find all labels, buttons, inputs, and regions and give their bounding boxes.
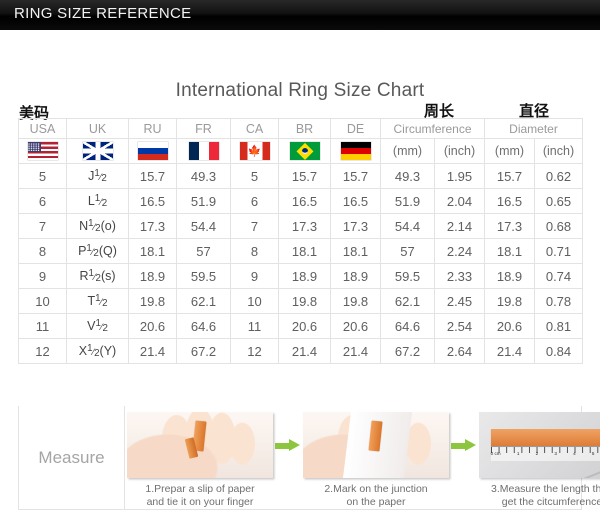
cell-fr: 54.4 [177, 214, 231, 239]
ruler-mark: 4 [573, 452, 576, 457]
de-flag-icon [341, 142, 371, 160]
cn-label-circumference: 周长 [424, 104, 454, 119]
br-flag-icon [290, 142, 320, 160]
step-2-caption: 2.Mark on the junction on the paper [301, 483, 451, 510]
usa-flag-icon [28, 142, 58, 160]
cell-de: 19.8 [331, 289, 381, 314]
cell-ru: 18.9 [129, 264, 177, 289]
cell-circ-mm: 57 [381, 239, 435, 264]
cell-br: 18.1 [279, 239, 331, 264]
cell-dia-mm: 17.3 [485, 214, 535, 239]
cell-circ-mm: 67.2 [381, 339, 435, 364]
cell-usa: 10 [19, 289, 67, 314]
arrow-cell-1 [275, 412, 301, 478]
cell-br: 17.3 [279, 214, 331, 239]
cell-uk: V1⁄2 [67, 314, 129, 339]
cell-de: 16.5 [331, 189, 381, 214]
cell-usa: 12 [19, 339, 67, 364]
step-1-caption: 1.Prepar a slip of paper and tie it on y… [125, 483, 275, 510]
cell-ca: 11 [231, 314, 279, 339]
ca-flag-icon [240, 142, 270, 160]
measure-step-3: 0 cm123456 3.Measure the length then get… [477, 412, 600, 510]
cell-dia-in: 0.62 [535, 164, 583, 189]
cell-de: 20.6 [331, 314, 381, 339]
col-header-uk: UK [67, 119, 129, 139]
cell-circ-in: 2.64 [435, 339, 485, 364]
cell-circ-mm: 54.4 [381, 214, 435, 239]
cell-dia-mm: 16.5 [485, 189, 535, 214]
cell-dia-in: 0.78 [535, 289, 583, 314]
cell-uk: N1⁄2(o) [67, 214, 129, 239]
ru-flag-icon [138, 142, 168, 160]
cell-fr: 51.9 [177, 189, 231, 214]
flag-cell-fr [177, 139, 231, 164]
step-3-photo: 0 cm123456 [479, 412, 600, 478]
paper-strip-measured [491, 429, 600, 446]
cell-br: 18.9 [279, 264, 331, 289]
table-row: 12X1⁄2(Y)21.467.21221.421.467.22.6421.40… [19, 339, 583, 364]
cell-dia-in: 0.74 [535, 264, 583, 289]
cell-usa: 7 [19, 214, 67, 239]
table-header-codes: USA UK RU FR CA BR DE Circumference Diam… [19, 119, 583, 139]
step-1-photo [127, 412, 273, 478]
cell-de: 18.9 [331, 264, 381, 289]
cell-fr: 57 [177, 239, 231, 264]
cell-circ-in: 2.24 [435, 239, 485, 264]
cell-br: 16.5 [279, 189, 331, 214]
col-header-ca: CA [231, 119, 279, 139]
ruler-mark: 1 [517, 452, 520, 457]
fr-flag-icon [189, 142, 219, 160]
cell-dia-in: 0.65 [535, 189, 583, 214]
flag-cell-de [331, 139, 381, 164]
cell-usa: 5 [19, 164, 67, 189]
col-header-de: DE [331, 119, 381, 139]
cell-br: 19.8 [279, 289, 331, 314]
table-row: 7N1⁄2(o)17.354.4717.317.354.42.1417.30.6… [19, 214, 583, 239]
measure-step-2: 2.Mark on the junction on the paper [301, 412, 451, 510]
cell-br: 21.4 [279, 339, 331, 364]
cell-circ-mm: 59.5 [381, 264, 435, 289]
cell-de: 15.7 [331, 164, 381, 189]
col-header-circumference: Circumference [381, 119, 485, 139]
cell-br: 20.6 [279, 314, 331, 339]
cell-ru: 16.5 [129, 189, 177, 214]
cell-dia-mm: 19.8 [485, 289, 535, 314]
flag-cell-ru [129, 139, 177, 164]
unit-dia-in: (inch) [535, 139, 583, 164]
cell-dia-in: 0.84 [535, 339, 583, 364]
table-row: 5J1⁄215.749.3515.715.749.31.9515.70.62 [19, 164, 583, 189]
measure-panel: Measure 1.Prepar a slip of paper and tie… [18, 406, 582, 510]
col-header-fr: FR [177, 119, 231, 139]
unit-circ-in: (inch) [435, 139, 485, 164]
cell-dia-mm: 18.9 [485, 264, 535, 289]
table-row: 8P1⁄2(Q)18.157818.118.1572.2418.10.71 [19, 239, 583, 264]
cell-dia-mm: 18.1 [485, 239, 535, 264]
col-header-br: BR [279, 119, 331, 139]
col-header-usa: USA [19, 119, 67, 139]
cell-ru: 19.8 [129, 289, 177, 314]
flag-cell-uk [67, 139, 129, 164]
cell-de: 21.4 [331, 339, 381, 364]
cell-fr: 67.2 [177, 339, 231, 364]
cell-ru: 18.1 [129, 239, 177, 264]
cell-ru: 17.3 [129, 214, 177, 239]
cell-circ-mm: 51.9 [381, 189, 435, 214]
table-row: 9R1⁄2(s)18.959.5918.918.959.52.3318.90.7… [19, 264, 583, 289]
cell-dia-mm: 20.6 [485, 314, 535, 339]
table-row: 6L1⁄216.551.9616.516.551.92.0416.50.65 [19, 189, 583, 214]
cell-fr: 62.1 [177, 289, 231, 314]
cell-usa: 6 [19, 189, 67, 214]
cell-ca: 5 [231, 164, 279, 189]
arrow-right-icon [275, 439, 301, 452]
step-3-caption: 3.Measure the length then get the citcum… [477, 483, 600, 510]
cell-circ-in: 2.45 [435, 289, 485, 314]
cell-ru: 21.4 [129, 339, 177, 364]
cell-usa: 8 [19, 239, 67, 264]
cell-circ-in: 2.54 [435, 314, 485, 339]
col-header-ru: RU [129, 119, 177, 139]
cell-dia-in: 0.81 [535, 314, 583, 339]
measure-steps: 1.Prepar a slip of paper and tie it on y… [125, 406, 600, 509]
table-flag-row: (mm) (inch) (mm) (inch) [19, 139, 583, 164]
cell-ca: 6 [231, 189, 279, 214]
ruler-numbers: 0 cm123456 [491, 452, 600, 457]
cell-ca: 8 [231, 239, 279, 264]
table-row: 10T1⁄219.862.11019.819.862.12.4519.80.78 [19, 289, 583, 314]
cell-ru: 20.6 [129, 314, 177, 339]
flag-cell-br [279, 139, 331, 164]
cell-uk: T1⁄2 [67, 289, 129, 314]
cell-de: 18.1 [331, 239, 381, 264]
cell-uk: R1⁄2(s) [67, 264, 129, 289]
cell-fr: 49.3 [177, 164, 231, 189]
top-banner: RING SIZE REFERENCE [0, 0, 600, 30]
cell-ca: 9 [231, 264, 279, 289]
cell-circ-in: 1.95 [435, 164, 485, 189]
cell-uk: P1⁄2(Q) [67, 239, 129, 264]
arrow-right-icon-2 [451, 439, 477, 452]
cell-circ-mm: 62.1 [381, 289, 435, 314]
ruler-icon: 0 cm123456 [491, 446, 600, 461]
cell-dia-mm: 15.7 [485, 164, 535, 189]
measure-step-1: 1.Prepar a slip of paper and tie it on y… [125, 412, 275, 510]
cell-fr: 64.6 [177, 314, 231, 339]
cn-label-diameter: 直径 [519, 104, 549, 119]
cell-usa: 11 [19, 314, 67, 339]
ruler-mark: 3 [554, 452, 557, 457]
cell-de: 17.3 [331, 214, 381, 239]
cell-uk: J1⁄2 [67, 164, 129, 189]
flag-cell-usa [19, 139, 67, 164]
cell-fr: 59.5 [177, 264, 231, 289]
cell-dia-in: 0.71 [535, 239, 583, 264]
cell-circ-in: 2.04 [435, 189, 485, 214]
unit-dia-mm: (mm) [485, 139, 535, 164]
cell-ca: 7 [231, 214, 279, 239]
cell-uk: X1⁄2(Y) [67, 339, 129, 364]
ruler-mark: 0 cm [491, 452, 501, 457]
cell-circ-mm: 49.3 [381, 164, 435, 189]
cell-dia-in: 0.68 [535, 214, 583, 239]
ruler-mark: 5 [592, 452, 595, 457]
cell-ca: 10 [231, 289, 279, 314]
col-header-diameter: Diameter [485, 119, 583, 139]
ring-size-table: USA UK RU FR CA BR DE Circumference Diam… [18, 118, 583, 364]
measure-label: Measure [19, 406, 125, 509]
ruler-mark: 2 [536, 452, 539, 457]
table-body: 5J1⁄215.749.3515.715.749.31.9515.70.626L… [19, 164, 583, 364]
cell-dia-mm: 21.4 [485, 339, 535, 364]
cell-uk: L1⁄2 [67, 189, 129, 214]
arrow-cell-2 [451, 412, 477, 478]
table-row: 11V1⁄220.664.61120.620.664.62.5420.60.81 [19, 314, 583, 339]
cell-ca: 12 [231, 339, 279, 364]
step-2-photo [303, 412, 449, 478]
cell-circ-in: 2.33 [435, 264, 485, 289]
cell-br: 15.7 [279, 164, 331, 189]
cell-circ-in: 2.14 [435, 214, 485, 239]
cell-ru: 15.7 [129, 164, 177, 189]
banner-title: RING SIZE REFERENCE [14, 5, 191, 22]
cell-circ-mm: 64.6 [381, 314, 435, 339]
cell-usa: 9 [19, 264, 67, 289]
flag-cell-ca [231, 139, 279, 164]
chart-title: International Ring Size Chart [0, 80, 600, 102]
unit-circ-mm: (mm) [381, 139, 435, 164]
uk-flag-icon [83, 142, 113, 160]
chart-sheet: International Ring Size Chart 美码 周长 直径 U… [0, 30, 600, 524]
